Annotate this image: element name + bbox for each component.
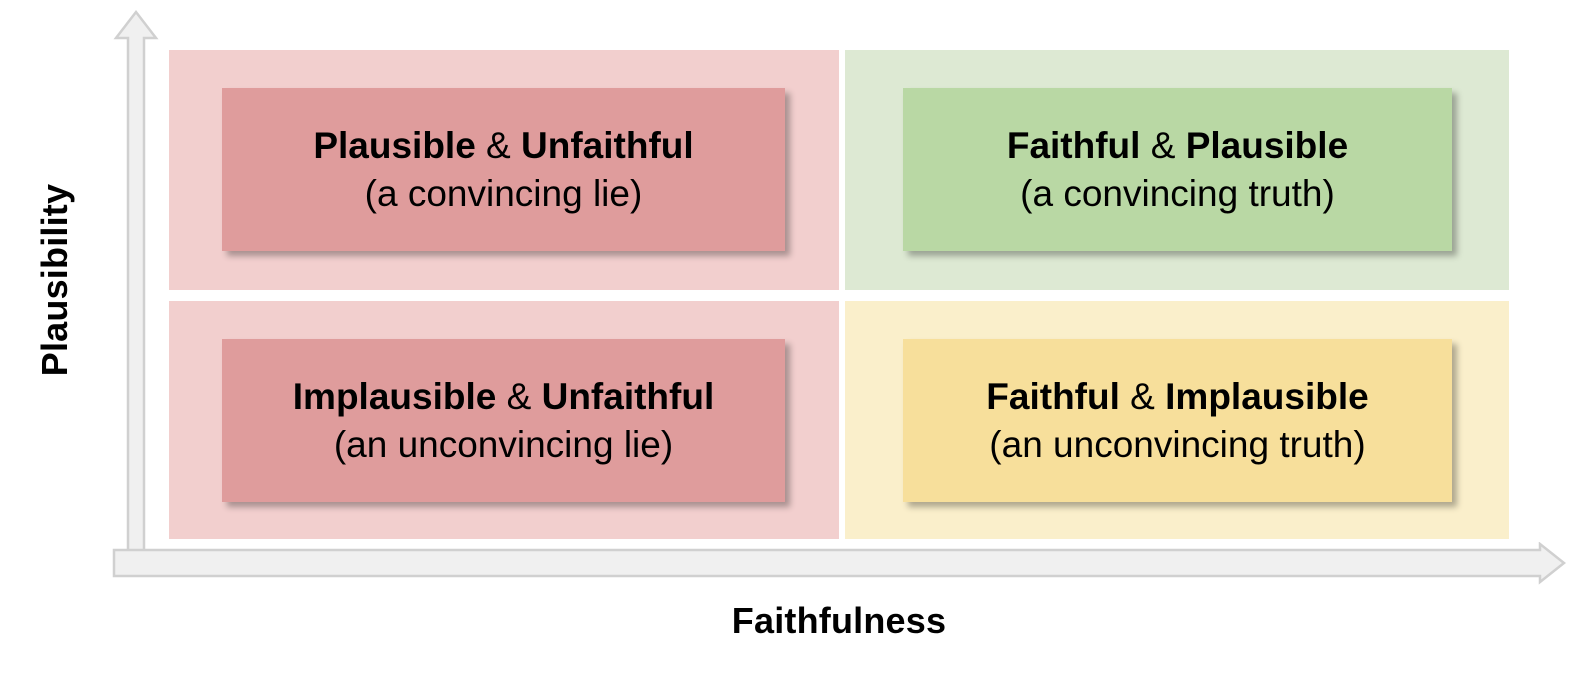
right-arrow-icon — [112, 542, 1568, 586]
diagram-canvas: Plausibility Faithfulness Plausible & Un… — [0, 0, 1578, 680]
card-title-amp: & — [496, 376, 541, 417]
card-title-second: Implausible — [1165, 376, 1369, 417]
card-plausible-unfaithful: Plausible & Unfaithful (a convincing lie… — [222, 88, 785, 251]
card-title-second: Unfaithful — [542, 376, 715, 417]
card-title-first: Faithful — [1007, 125, 1141, 166]
card-title-first: Faithful — [986, 376, 1120, 417]
card-title-first: Implausible — [293, 376, 497, 417]
card-title: Faithful & Implausible — [986, 375, 1368, 419]
card-title: Plausible & Unfaithful — [313, 124, 693, 168]
x-axis-label: Faithfulness — [169, 600, 1509, 642]
quadrant-faithful-implausible: Faithful & Implausible (an unconvincing … — [845, 301, 1509, 539]
card-subtitle: (a convincing lie) — [365, 172, 643, 216]
quadrant-plausible-unfaithful: Plausible & Unfaithful (a convincing lie… — [169, 50, 839, 290]
card-title: Implausible & Unfaithful — [293, 375, 714, 419]
card-title-amp: & — [1140, 125, 1185, 166]
card-subtitle: (a convincing truth) — [1020, 172, 1335, 216]
quadrant-grid: Plausible & Unfaithful (a convincing lie… — [169, 50, 1509, 539]
quadrant-faithful-plausible: Faithful & Plausible (a convincing truth… — [845, 50, 1509, 290]
y-axis-label-text: Plausibility — [34, 184, 76, 376]
quadrant-implausible-unfaithful: Implausible & Unfaithful (an unconvincin… — [169, 301, 839, 539]
card-title-second: Unfaithful — [521, 125, 694, 166]
card-title: Faithful & Plausible — [1007, 124, 1348, 168]
card-faithful-plausible: Faithful & Plausible (a convincing truth… — [903, 88, 1452, 251]
card-subtitle: (an unconvincing truth) — [989, 423, 1365, 467]
y-axis-arrow — [112, 8, 160, 578]
card-faithful-implausible: Faithful & Implausible (an unconvincing … — [903, 339, 1452, 502]
card-subtitle: (an unconvincing lie) — [334, 423, 673, 467]
x-axis-arrow — [112, 542, 1568, 586]
card-title-amp: & — [476, 125, 521, 166]
card-title-first: Plausible — [313, 125, 475, 166]
card-implausible-unfaithful: Implausible & Unfaithful (an unconvincin… — [222, 339, 785, 502]
y-axis-label: Plausibility — [0, 0, 110, 560]
card-title-second: Plausible — [1186, 125, 1348, 166]
card-title-amp: & — [1120, 376, 1165, 417]
up-arrow-icon — [112, 8, 160, 578]
